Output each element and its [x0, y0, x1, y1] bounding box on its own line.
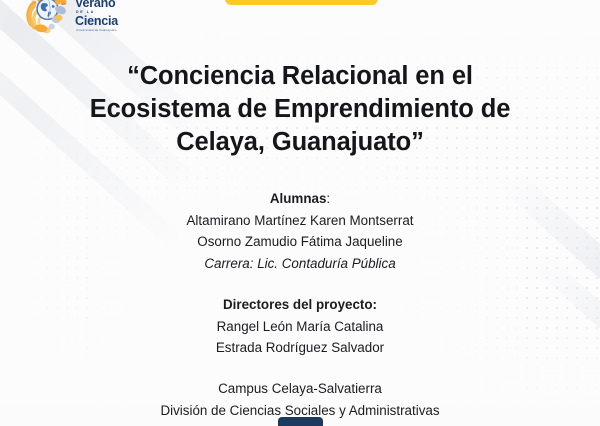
logo-wordmark: Verano DE LA Ciencia Universidad de Guan…: [75, 0, 118, 32]
slide-title-line-2: Ecosistema de Emprendimiento de: [50, 93, 550, 126]
directors-heading: Directores del proyecto:: [60, 294, 540, 316]
institution-logo: Verano DE LA Ciencia Universidad de Guan…: [26, 0, 146, 35]
students-heading: Alumnas:: [60, 188, 540, 210]
slide-title: “Conciencia Relacional en el Ecosistema …: [50, 60, 550, 159]
diagonal-band: [532, 252, 600, 426]
student-name: Altamirano Martínez Karen Montserrat: [60, 210, 540, 232]
verano-de-la-ciencia-globe-toucan-logo-icon: [26, 0, 72, 34]
spacer: [60, 359, 540, 378]
slide-title-line-3: Celaya, Guanajuato”: [50, 126, 550, 159]
logo-line-university: Universidad de Guanajuato: [76, 29, 118, 32]
presentation-slide: Verano DE LA Ciencia Universidad de Guan…: [0, 0, 600, 426]
slide-title-line-1: “Conciencia Relacional en el: [50, 60, 550, 93]
diagonal-band: [463, 0, 600, 56]
students-heading-label: Alumnas: [270, 191, 327, 206]
top-yellow-accent-tab: [225, 0, 378, 5]
affiliation-campus: Campus Celaya-Salvatierra: [60, 378, 540, 400]
slide-body: Alumnas: Altamirano Martínez Karen Monts…: [60, 188, 540, 421]
logo-line-verano: Verano: [75, 0, 118, 10]
director-name: Estrada Rodríguez Salvador: [60, 337, 540, 359]
student-program: Carrera: Lic. Contaduría Pública: [60, 253, 540, 275]
spacer: [60, 275, 540, 294]
affiliation-division: División de Ciencias Sociales y Administ…: [60, 400, 540, 422]
students-heading-colon: :: [326, 191, 330, 206]
logo-line-ciencia: Ciencia: [75, 15, 118, 28]
student-name: Osorno Zamudio Fátima Jaqueline: [60, 231, 540, 253]
director-name: Rangel León María Catalina: [60, 316, 540, 338]
